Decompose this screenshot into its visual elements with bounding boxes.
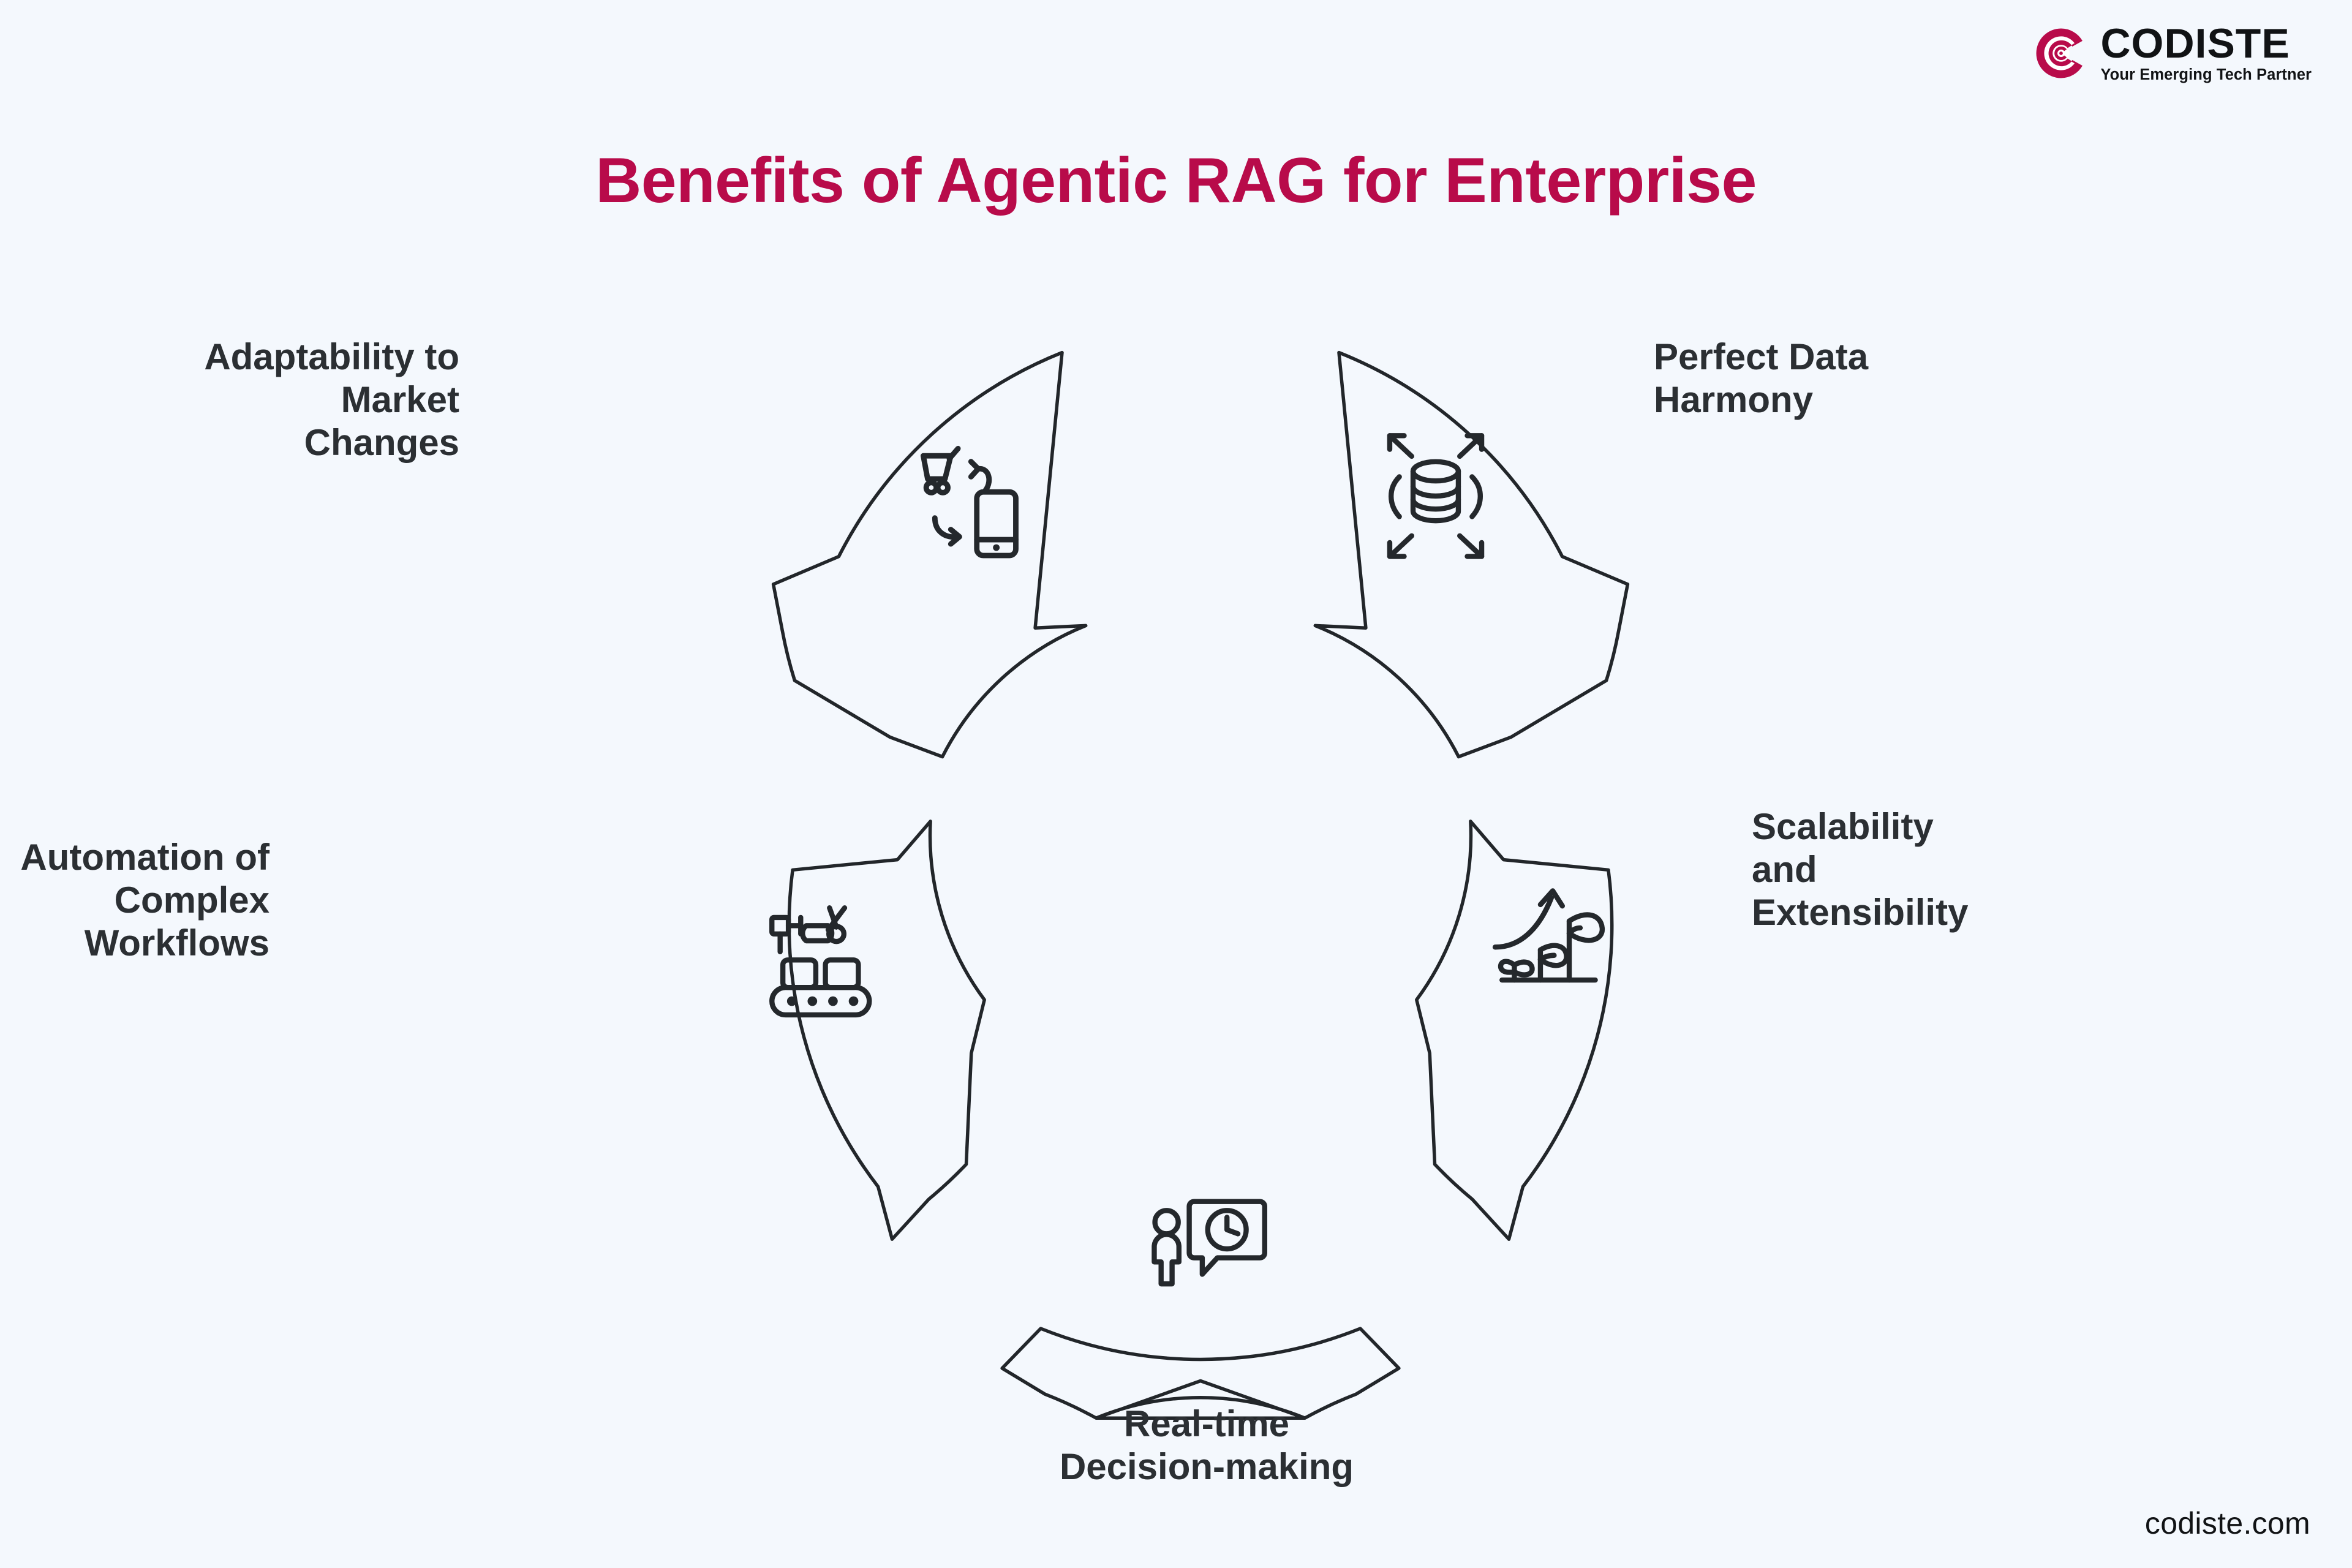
segment-label-perfect-data-harmony: Perfect Data Harmony — [1654, 336, 2205, 421]
segment-label-real-time-decision-making: Real-time Decision-making — [900, 1403, 1513, 1488]
cycle-diagram — [0, 0, 2352, 1568]
segment-scalability-and-extensibility[interactable] — [1417, 821, 1612, 1239]
segment-label-scalability-and-extensibility: Scalability and Extensibility — [1752, 805, 2303, 935]
segment-label-adaptability-to-market-changes: Adaptability to Market Changes — [0, 336, 459, 465]
segment-real-time-decision-making[interactable] — [1002, 1202, 1399, 1418]
segment-arrow-shape — [1417, 821, 1612, 1239]
segment-label-automation-of-complex-workflows: Automation of Complex Workflows — [0, 836, 269, 965]
segment-arrow-shape — [774, 353, 1086, 757]
segment-perfect-data-harmony[interactable] — [1315, 353, 1627, 757]
person-clock-speech-bubble-icon — [1154, 1202, 1264, 1284]
segment-automation-of-complex-workflows[interactable] — [772, 821, 984, 1239]
segment-arrow-shape — [789, 821, 984, 1239]
segment-adaptability-to-market-changes[interactable] — [774, 353, 1086, 757]
footer-website-url: codiste.com — [2145, 1506, 2310, 1541]
